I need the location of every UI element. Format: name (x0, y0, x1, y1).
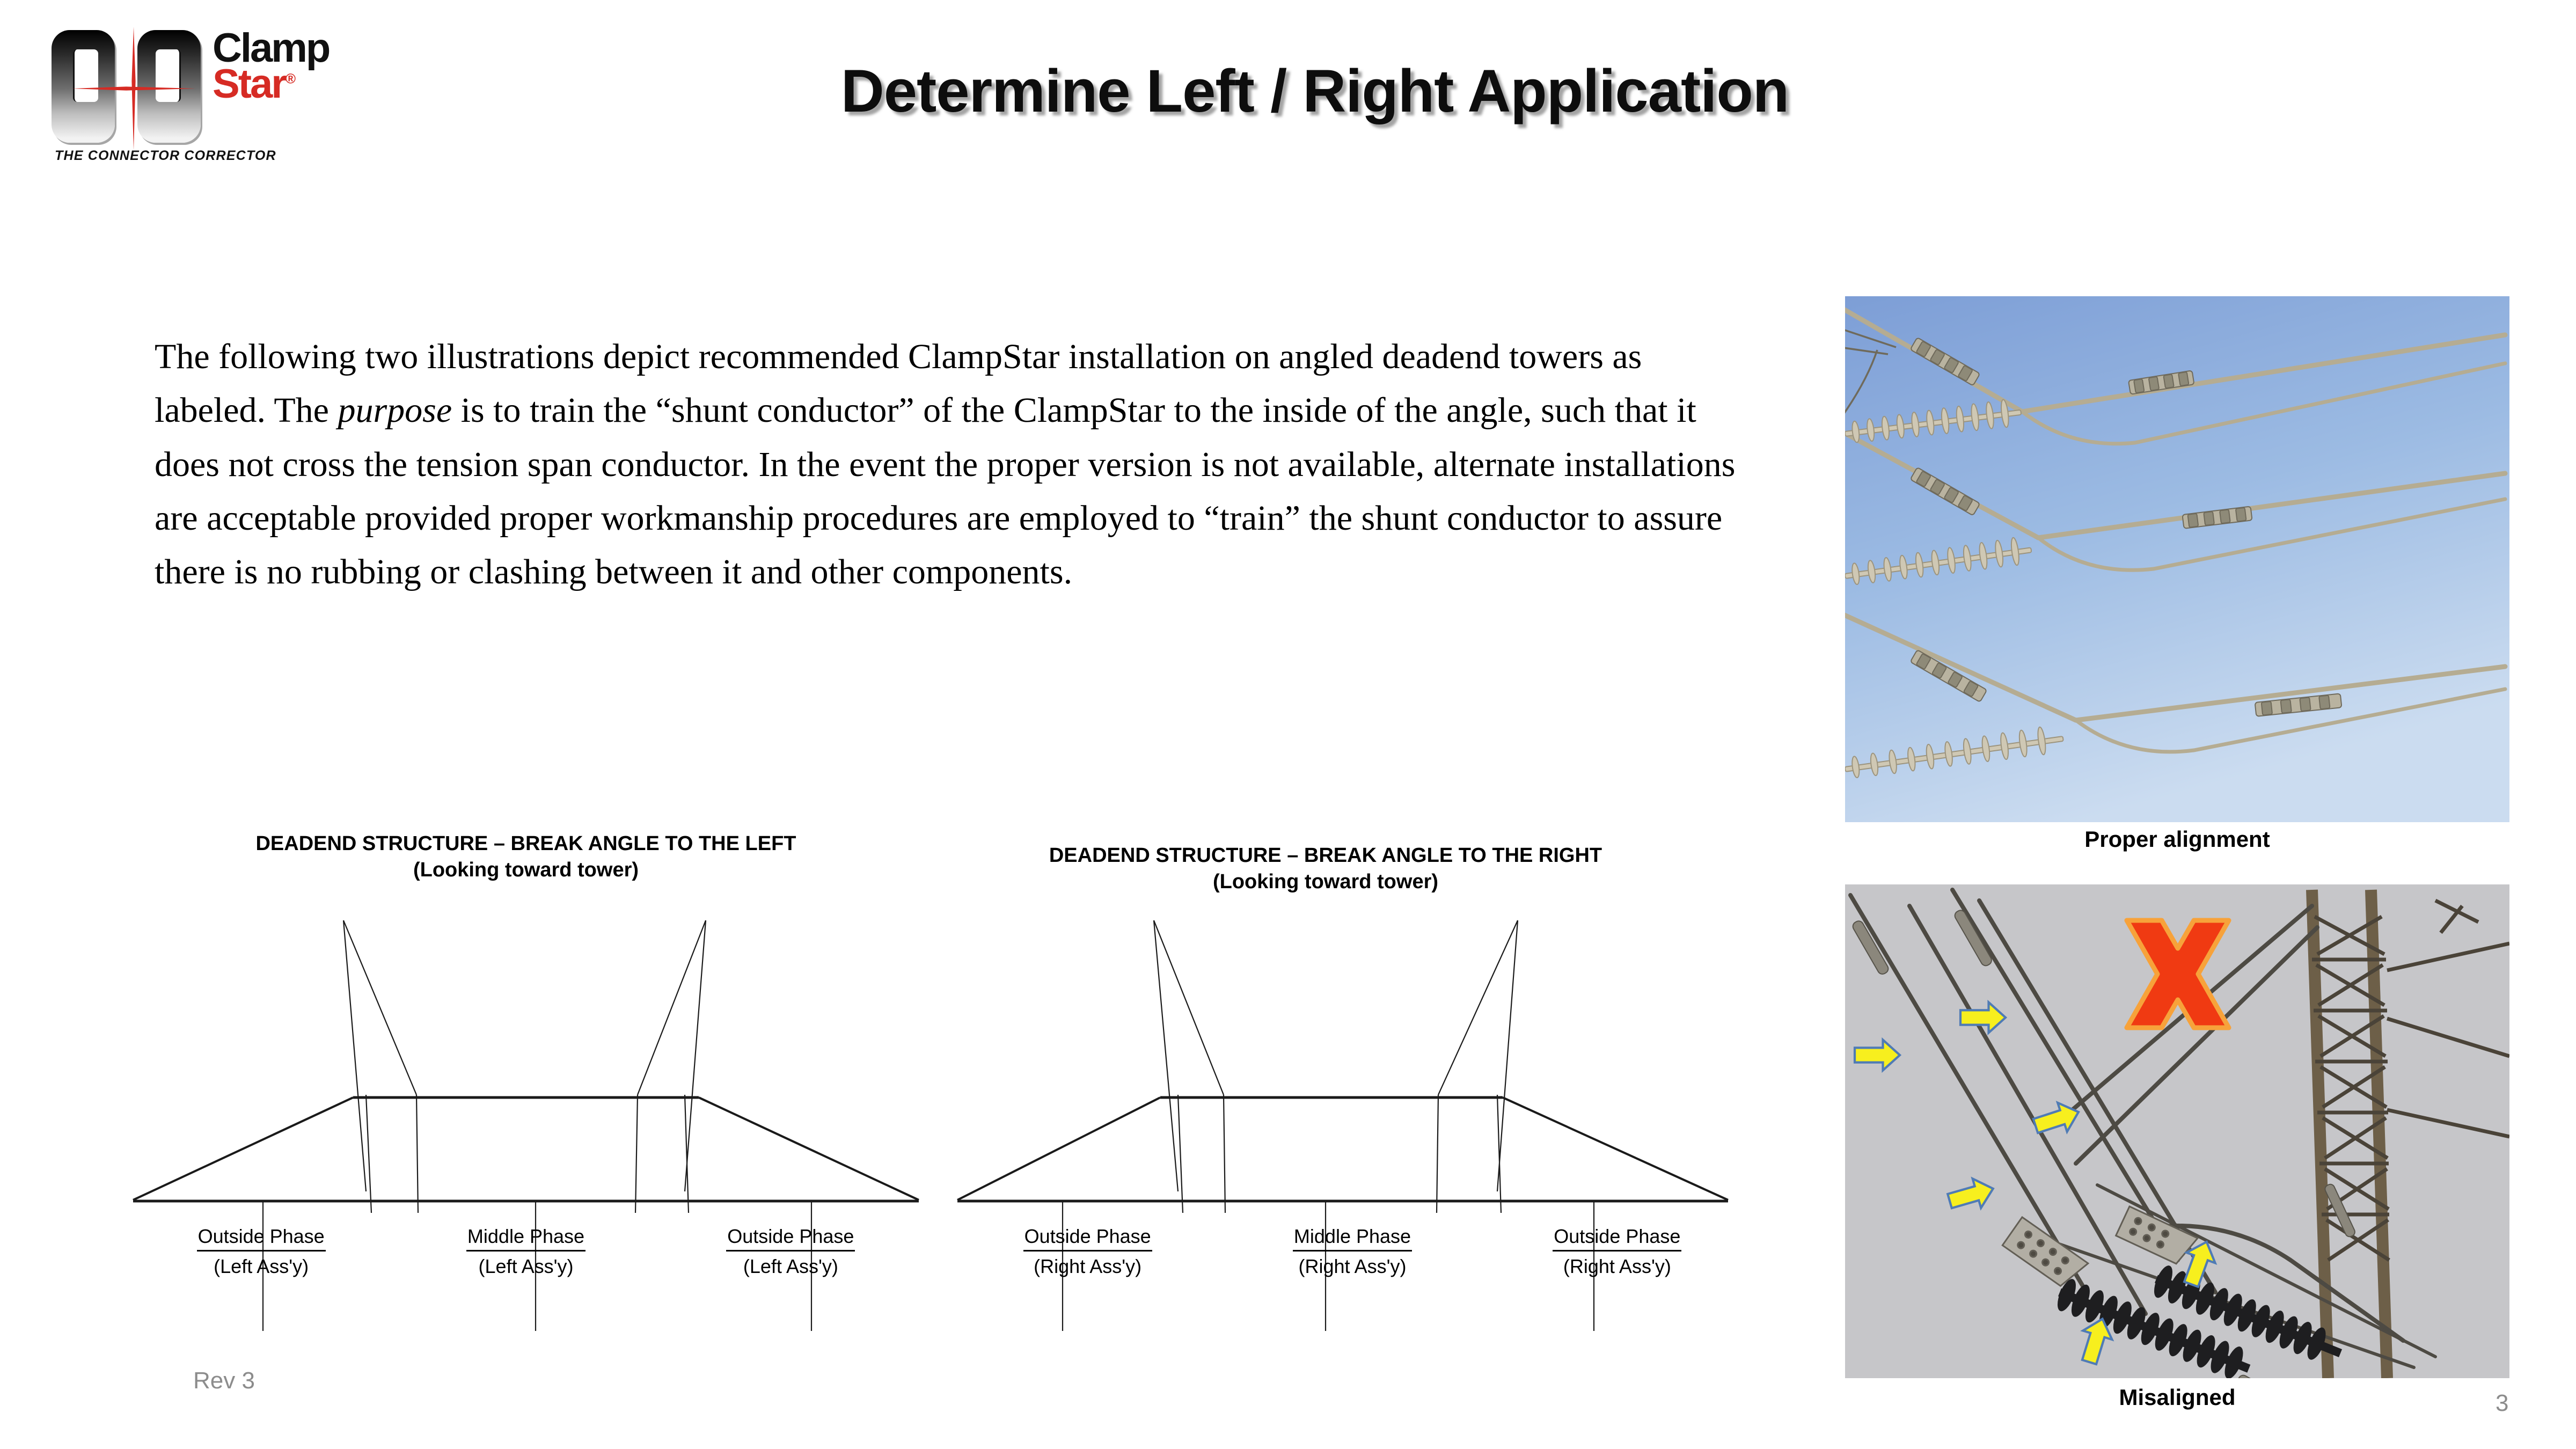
logo-word-star: Star® (213, 66, 336, 103)
phase-label-outside-left-1: Outside Phase (Left Ass'y) (129, 1224, 393, 1279)
phase-label-row-left: Outside Phase (Left Ass'y) Middle Phase … (129, 1224, 923, 1279)
phase-assembly: (Right Ass'y) (955, 1254, 1220, 1280)
diagram-heading-right-line1: DEADEND STRUCTURE – BREAK ANGLE TO THE R… (950, 843, 1701, 869)
phase-label-row-right: Outside Phase (Right Ass'y) Middle Phase… (955, 1224, 1750, 1279)
phase-label-outside-right-1: Outside Phase (Right Ass'y) (955, 1224, 1220, 1279)
phase-assembly: (Left Ass'y) (658, 1254, 923, 1280)
phase-assembly: (Left Ass'y) (129, 1254, 393, 1280)
phase-assembly: (Right Ass'y) (1220, 1254, 1484, 1280)
clampstar-logo: Clamp Star® THE CONNECTOR CORRECTOR (52, 26, 331, 187)
phase-name: Outside Phase (1553, 1224, 1681, 1252)
diagram-heading-left-line2: (Looking toward tower) (150, 857, 902, 883)
page-title: Determine Left / Right Application (590, 56, 2039, 126)
misaligned-scene (1845, 884, 2509, 1378)
phase-label-middle-left: Middle Phase (Left Ass'y) (393, 1224, 658, 1279)
logo-mark (52, 30, 213, 143)
phase-name: Outside Phase (1023, 1224, 1152, 1252)
caption-misaligned: Misaligned (1845, 1385, 2509, 1410)
phase-assembly: (Right Ass'y) (1485, 1254, 1750, 1280)
revision-label: Rev 3 (193, 1367, 255, 1394)
deadend-diagram-left: Outside Phase (Left Ass'y) Middle Phase … (129, 891, 923, 1331)
diagram-heading-left-line1: DEADEND STRUCTURE – BREAK ANGLE TO THE L… (150, 831, 902, 857)
deadend-diagram-right: Outside Phase (Right Ass'y) Middle Phase… (955, 891, 1750, 1331)
photo-proper-alignment (1845, 296, 2509, 822)
photo-misaligned (1845, 884, 2509, 1378)
phase-name: Outside Phase (197, 1224, 326, 1252)
intro-paragraph: The following two illustrations depict r… (155, 330, 1754, 599)
phase-label-middle-right: Middle Phase (Right Ass'y) (1220, 1224, 1484, 1279)
logo-star-icon (83, 27, 185, 150)
phase-name: Outside Phase (726, 1224, 855, 1252)
proper-alignment-scene (1845, 296, 2509, 822)
phase-label-outside-right-2: Outside Phase (Right Ass'y) (1485, 1224, 1750, 1279)
phase-label-outside-left-2: Outside Phase (Left Ass'y) (658, 1224, 923, 1279)
diagram-heading-left: DEADEND STRUCTURE – BREAK ANGLE TO THE L… (150, 831, 902, 883)
phase-assembly: (Left Ass'y) (393, 1254, 658, 1280)
diagram-heading-right: DEADEND STRUCTURE – BREAK ANGLE TO THE R… (950, 843, 1701, 895)
phase-name: Middle Phase (1293, 1224, 1412, 1252)
phase-name: Middle Phase (466, 1224, 586, 1252)
logo-wordmark: Clamp Star® (213, 31, 336, 103)
logo-tagline: THE CONNECTOR CORRECTOR (55, 148, 276, 164)
paragraph-emphasis: purpose (338, 391, 452, 430)
page-number: 3 (2495, 1390, 2508, 1417)
caption-proper-alignment: Proper alignment (1845, 826, 2509, 852)
